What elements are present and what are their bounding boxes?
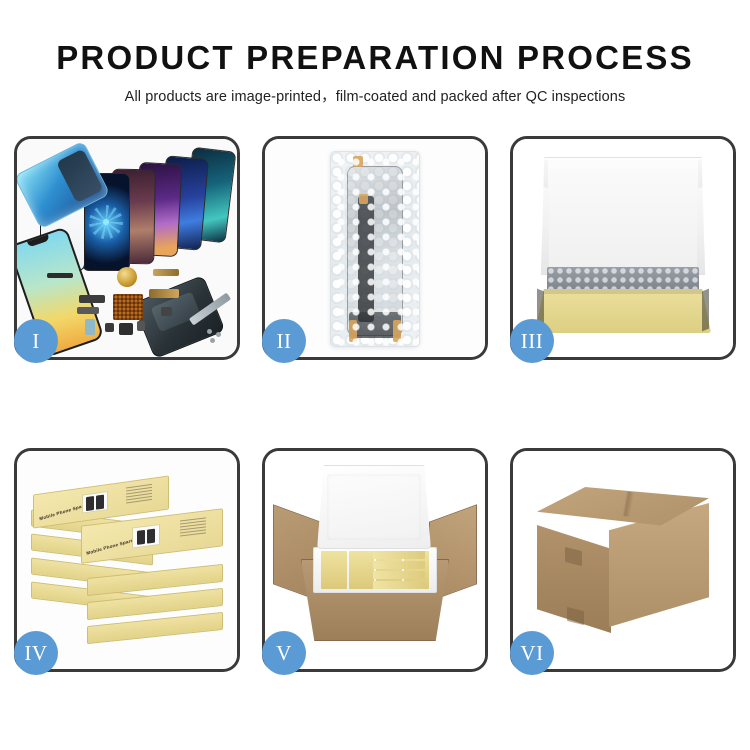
- chip-grid-icon: [113, 294, 143, 320]
- phone-fan-icon: [73, 145, 233, 260]
- packed-box-rows-group: [373, 551, 425, 589]
- step-panel-3[interactable]: III: [510, 136, 736, 360]
- small-part-icon: [137, 321, 145, 331]
- step-badge-3: III: [510, 319, 554, 363]
- page-title: PRODUCT PREPARATION PROCESS: [0, 41, 750, 76]
- small-part-icon: [161, 307, 172, 316]
- step-badge-5: V: [262, 631, 306, 675]
- bubble-wrap-bag-icon: [330, 151, 420, 347]
- spare-parts-group: [75, 267, 203, 345]
- foam-sheet-icon: [549, 169, 697, 271]
- sealed-carton-icon: [537, 487, 709, 637]
- tape-icon: [353, 156, 363, 167]
- box-corner-icon: [702, 289, 709, 332]
- packed-box-icon: [373, 571, 425, 579]
- page-header: PRODUCT PREPARATION PROCESS All products…: [0, 0, 750, 106]
- step-panel-2[interactable]: II: [262, 136, 488, 360]
- small-part-icon: [85, 319, 95, 335]
- packed-box-icon: [349, 551, 375, 589]
- box-label-lines: [126, 484, 152, 506]
- packed-box-icon: [373, 581, 425, 589]
- step-panel-6[interactable]: VI: [510, 448, 736, 672]
- step-panel-1[interactable]: I: [14, 136, 240, 360]
- flex-cable-icon: [79, 295, 105, 303]
- yellow-box-tray-icon: [535, 289, 711, 333]
- box-label-lines: [180, 517, 206, 538]
- tape-icon: [349, 320, 357, 342]
- box-stack-group: Mobile Phone Spare Parts Mobile Phone Sp…: [29, 473, 225, 651]
- tape-icon: [359, 194, 368, 204]
- page-subtitle: All products are image-printed，film-coat…: [0, 85, 750, 106]
- box-label-image: [132, 524, 160, 548]
- box-label-image: [82, 491, 108, 514]
- wrapped-part-core-icon: [358, 196, 374, 322]
- wrapped-part-icon: [347, 166, 403, 336]
- packed-yellow-boxes-group: [321, 551, 429, 589]
- flex-cable-icon: [77, 307, 99, 314]
- speaker-part-icon: [47, 273, 73, 278]
- tape-icon: [393, 320, 401, 342]
- step-badge-1: I: [14, 319, 58, 363]
- step-badge-2: II: [262, 319, 306, 363]
- step-panel-5[interactable]: V: [262, 448, 488, 672]
- process-steps-grid: I II: [14, 136, 736, 696]
- packed-box-icon: [373, 551, 425, 559]
- flex-cable-icon: [149, 289, 179, 298]
- screws-group-icon: [207, 329, 227, 343]
- step-panel-4[interactable]: Mobile Phone Spare Parts Mobile Phone Sp…: [14, 448, 240, 672]
- step-badge-6: VI: [510, 631, 554, 675]
- packed-box-icon: [373, 561, 425, 569]
- small-part-icon: [105, 323, 114, 332]
- foam-lid-icon: [317, 465, 431, 549]
- product-preparation-page: PRODUCT PREPARATION PROCESS All products…: [0, 0, 750, 750]
- packed-box-icon: [321, 551, 347, 589]
- small-part-icon: [119, 323, 133, 335]
- coil-part-icon: [117, 267, 137, 287]
- carton-tape-icon: [567, 607, 584, 625]
- flex-cable-icon: [153, 269, 179, 276]
- step-badge-4: IV: [14, 631, 58, 675]
